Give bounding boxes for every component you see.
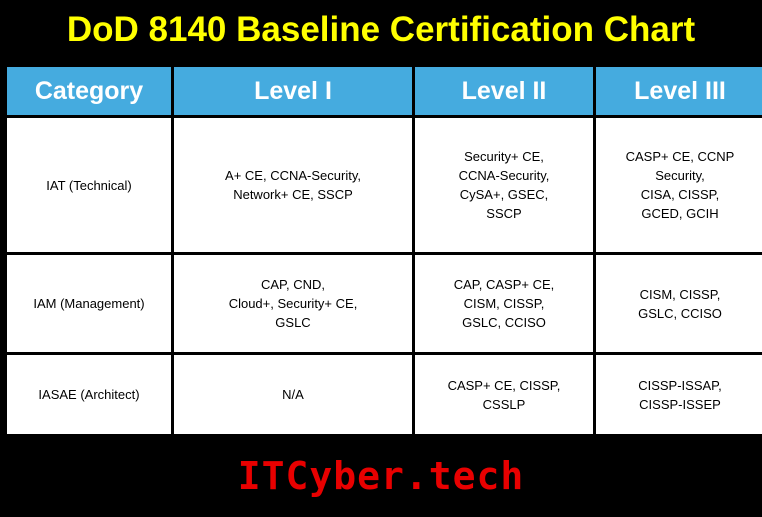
cell-iasae-level-3: CISSP-ISSAP,CISSP-ISSEP	[596, 355, 762, 434]
table-row: IAT (Technical) A+ CE, CCNA-Security,Net…	[7, 118, 762, 252]
cell-line: Security,	[600, 166, 760, 185]
cell-line: Network+ CE, SSCP	[178, 185, 408, 204]
cell-iasae-level-2: CASP+ CE, CISSP,CSSLP	[415, 355, 593, 434]
cell-line: CySA+, GSEC,	[419, 185, 589, 204]
cell-line: CISA, CISSP,	[600, 185, 760, 204]
cell-lines: CAP, CASP+ CE,CISM, CISSP,GSLC, CCISO	[419, 275, 589, 332]
column-header-level-2: Level II	[415, 67, 593, 115]
cell-lines: CISSP-ISSAP,CISSP-ISSEP	[600, 376, 760, 414]
cell-line: GCED, GCIH	[600, 204, 760, 223]
cell-line: A+ CE, CCNA-Security,	[178, 166, 408, 185]
cell-line: CCNA-Security,	[419, 166, 589, 185]
cell-line: Cloud+, Security+ CE,	[178, 294, 408, 313]
cell-lines: A+ CE, CCNA-Security,Network+ CE, SSCP	[178, 166, 408, 204]
cell-lines: Security+ CE,CCNA-Security,CySA+, GSEC,S…	[419, 147, 589, 223]
cell-iasae-level-1: N/A	[174, 355, 412, 434]
column-header-category: Category	[7, 67, 171, 115]
column-header-level-1: Level I	[174, 67, 412, 115]
cell-lines: CASP+ CE, CISSP,CSSLP	[419, 376, 589, 414]
cell-line: CAP, CND,	[178, 275, 408, 294]
category-cell-iat: IAT (Technical)	[7, 118, 171, 252]
column-header-level-3: Level III	[596, 67, 762, 115]
cell-iat-level-1: A+ CE, CCNA-Security,Network+ CE, SSCP	[174, 118, 412, 252]
category-cell-iasae: IASAE (Architect)	[7, 355, 171, 434]
site-watermark: ITCyber.tech	[0, 452, 762, 500]
cell-line: CISSP-ISSEP	[600, 395, 760, 414]
cell-line: CAP, CASP+ CE,	[419, 275, 589, 294]
certification-table-container: Category Level I Level II Level III IAT …	[4, 64, 758, 439]
cell-line: CISM, CISSP,	[600, 285, 760, 304]
cell-line: GSLC, CCISO	[600, 304, 760, 323]
cell-lines: CAP, CND,Cloud+, Security+ CE,GSLC	[178, 275, 408, 332]
page-title: DoD 8140 Baseline Certification Chart	[0, 6, 762, 54]
table-header-row: Category Level I Level II Level III	[7, 67, 762, 115]
cell-lines: CISM, CISSP,GSLC, CCISO	[600, 285, 760, 323]
cell-line: Security+ CE,	[419, 147, 589, 166]
cell-iam-level-2: CAP, CASP+ CE,CISM, CISSP,GSLC, CCISO	[415, 255, 593, 352]
cell-iat-level-2: Security+ CE,CCNA-Security,CySA+, GSEC,S…	[415, 118, 593, 252]
cell-iat-level-3: CASP+ CE, CCNPSecurity,CISA, CISSP,GCED,…	[596, 118, 762, 252]
cell-line: SSCP	[419, 204, 589, 223]
table-row: IAM (Management) CAP, CND,Cloud+, Securi…	[7, 255, 762, 352]
cell-lines: N/A	[178, 385, 408, 404]
certification-chart-page: DoD 8140 Baseline Certification Chart Ca…	[0, 0, 762, 517]
cell-line: GSLC, CCISO	[419, 313, 589, 332]
cell-line: CSSLP	[419, 395, 589, 414]
category-cell-iam: IAM (Management)	[7, 255, 171, 352]
cell-lines: CASP+ CE, CCNPSecurity,CISA, CISSP,GCED,…	[600, 147, 760, 223]
cell-line: CASP+ CE, CISSP,	[419, 376, 589, 395]
cell-iam-level-3: CISM, CISSP,GSLC, CCISO	[596, 255, 762, 352]
cell-line: CASP+ CE, CCNP	[600, 147, 760, 166]
cell-line: N/A	[178, 385, 408, 404]
certification-table: Category Level I Level II Level III IAT …	[4, 64, 762, 437]
cell-line: CISSP-ISSAP,	[600, 376, 760, 395]
cell-line: GSLC	[178, 313, 408, 332]
cell-line: CISM, CISSP,	[419, 294, 589, 313]
cell-iam-level-1: CAP, CND,Cloud+, Security+ CE,GSLC	[174, 255, 412, 352]
table-row: IASAE (Architect) N/A CASP+ CE, CISSP,CS…	[7, 355, 762, 434]
